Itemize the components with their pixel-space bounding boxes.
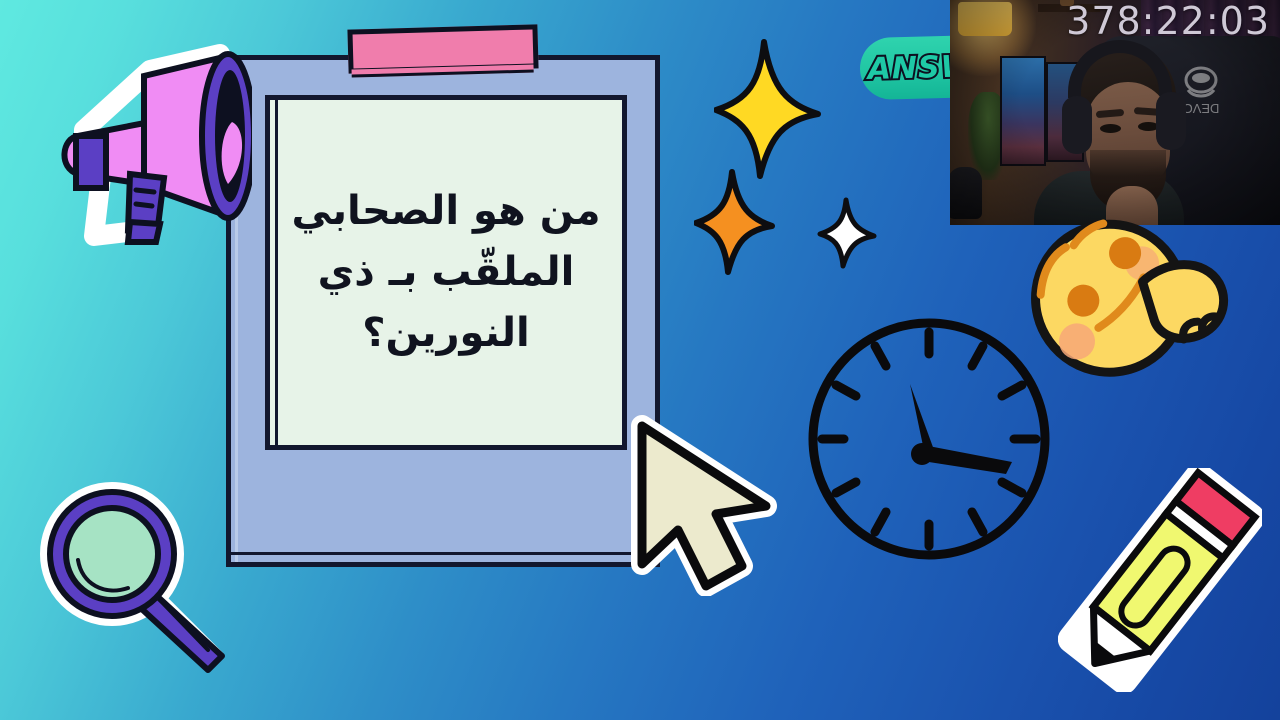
clock-sticker [800,310,1058,568]
pencil-sticker [1058,468,1262,692]
stream-timer: 378:22:03 [1066,0,1270,42]
clipboard: من هو الصحابي الملقّب بـ ذي النورين؟ [226,55,660,567]
cursor-sticker [624,414,794,596]
paper-spine [275,100,278,445]
question-text: من هو الصحابي الملقّب بـ ذي النورين؟ [270,181,622,363]
pencil-icon [1058,468,1262,692]
clipboard-tape [347,24,538,73]
sparkle-large-icon [714,38,822,180]
question-paper: من هو الصحابي الملقّب بـ ذي النورين؟ [265,95,627,450]
megaphone-sticker [32,18,252,260]
stream-overlay-stage: من هو الصحابي الملقّب بـ ذي النورين؟ ANS… [0,0,1280,720]
clipboard-bottom-edge [231,552,655,555]
sparkle-medium-icon [694,168,776,276]
mouse-pointer-icon [624,414,794,596]
sparkle-small-icon [816,196,878,270]
magnifying-glass-icon [34,478,236,680]
megaphone-icon [32,18,252,260]
magnifier-sticker [34,478,236,680]
clock-icon [800,310,1058,568]
